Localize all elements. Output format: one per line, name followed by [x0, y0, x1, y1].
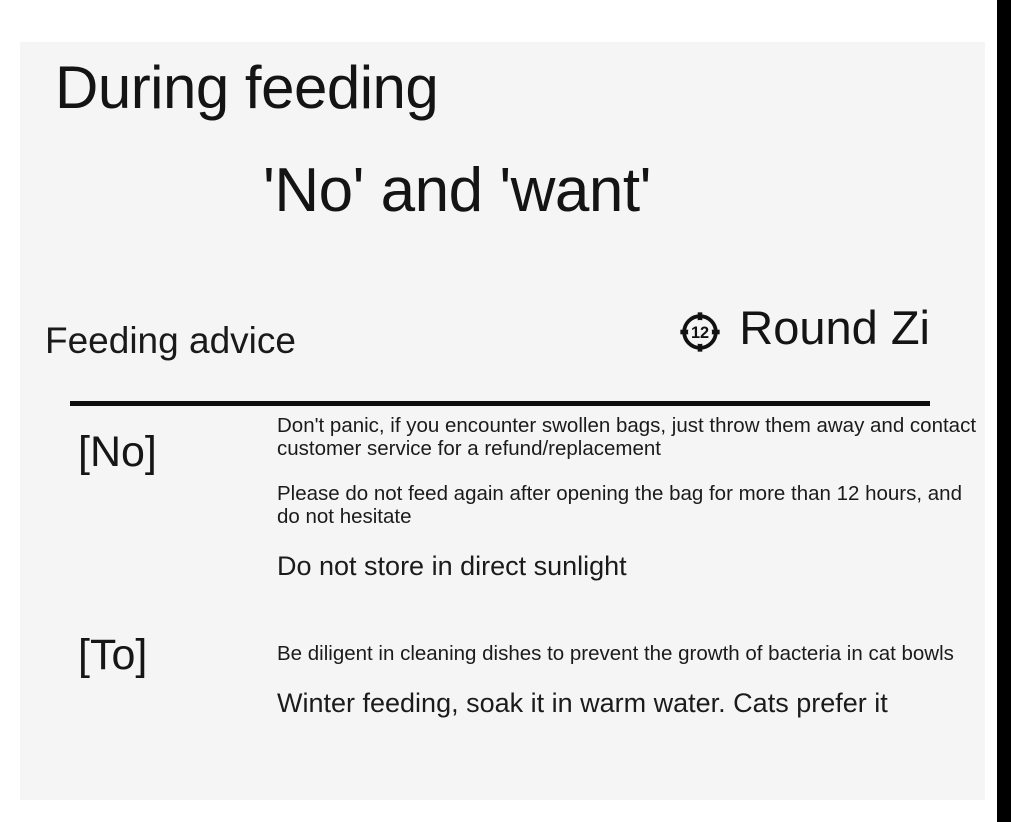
advice-group-to: [To] Be diligent in cleaning dishes to p…: [20, 619, 985, 779]
right-edge-band: [997, 0, 1011, 822]
section-title: Feeding advice: [45, 318, 296, 364]
poster-headline-line-1: During feeding: [55, 52, 438, 124]
advice-item: Be diligent in cleaning dishes to preven…: [277, 642, 985, 665]
advice-item-list: Be diligent in cleaning dishes to preven…: [277, 642, 985, 719]
clock-12-hours-icon: 12: [677, 309, 723, 355]
advice-item: Don't panic, if you encounter swollen ba…: [277, 414, 985, 460]
advice-item: Do not store in direct sunlight: [277, 550, 985, 582]
brand-group: 12 Round Zi: [677, 300, 930, 356]
advice-item: Please do not feed again after opening t…: [277, 482, 985, 528]
poster-headline-line-2: 'No' and 'want': [263, 154, 651, 228]
advice-group-label: [No]: [78, 426, 157, 478]
section-header: Feeding advice 12 Round Zi: [20, 300, 985, 380]
advice-group-no: [No] Don't panic, if you encounter swoll…: [20, 414, 985, 614]
advice-item: Winter feeding, soak it in warm water. C…: [277, 687, 985, 719]
advice-item-list: Don't panic, if you encounter swollen ba…: [277, 414, 985, 582]
poster-card: During feeding 'No' and 'want' Feeding a…: [20, 42, 985, 800]
brand-name: Round Zi: [739, 300, 930, 356]
clock-icon-value: 12: [691, 324, 709, 342]
section-divider: [70, 401, 930, 406]
advice-group-label: [To]: [78, 629, 147, 681]
